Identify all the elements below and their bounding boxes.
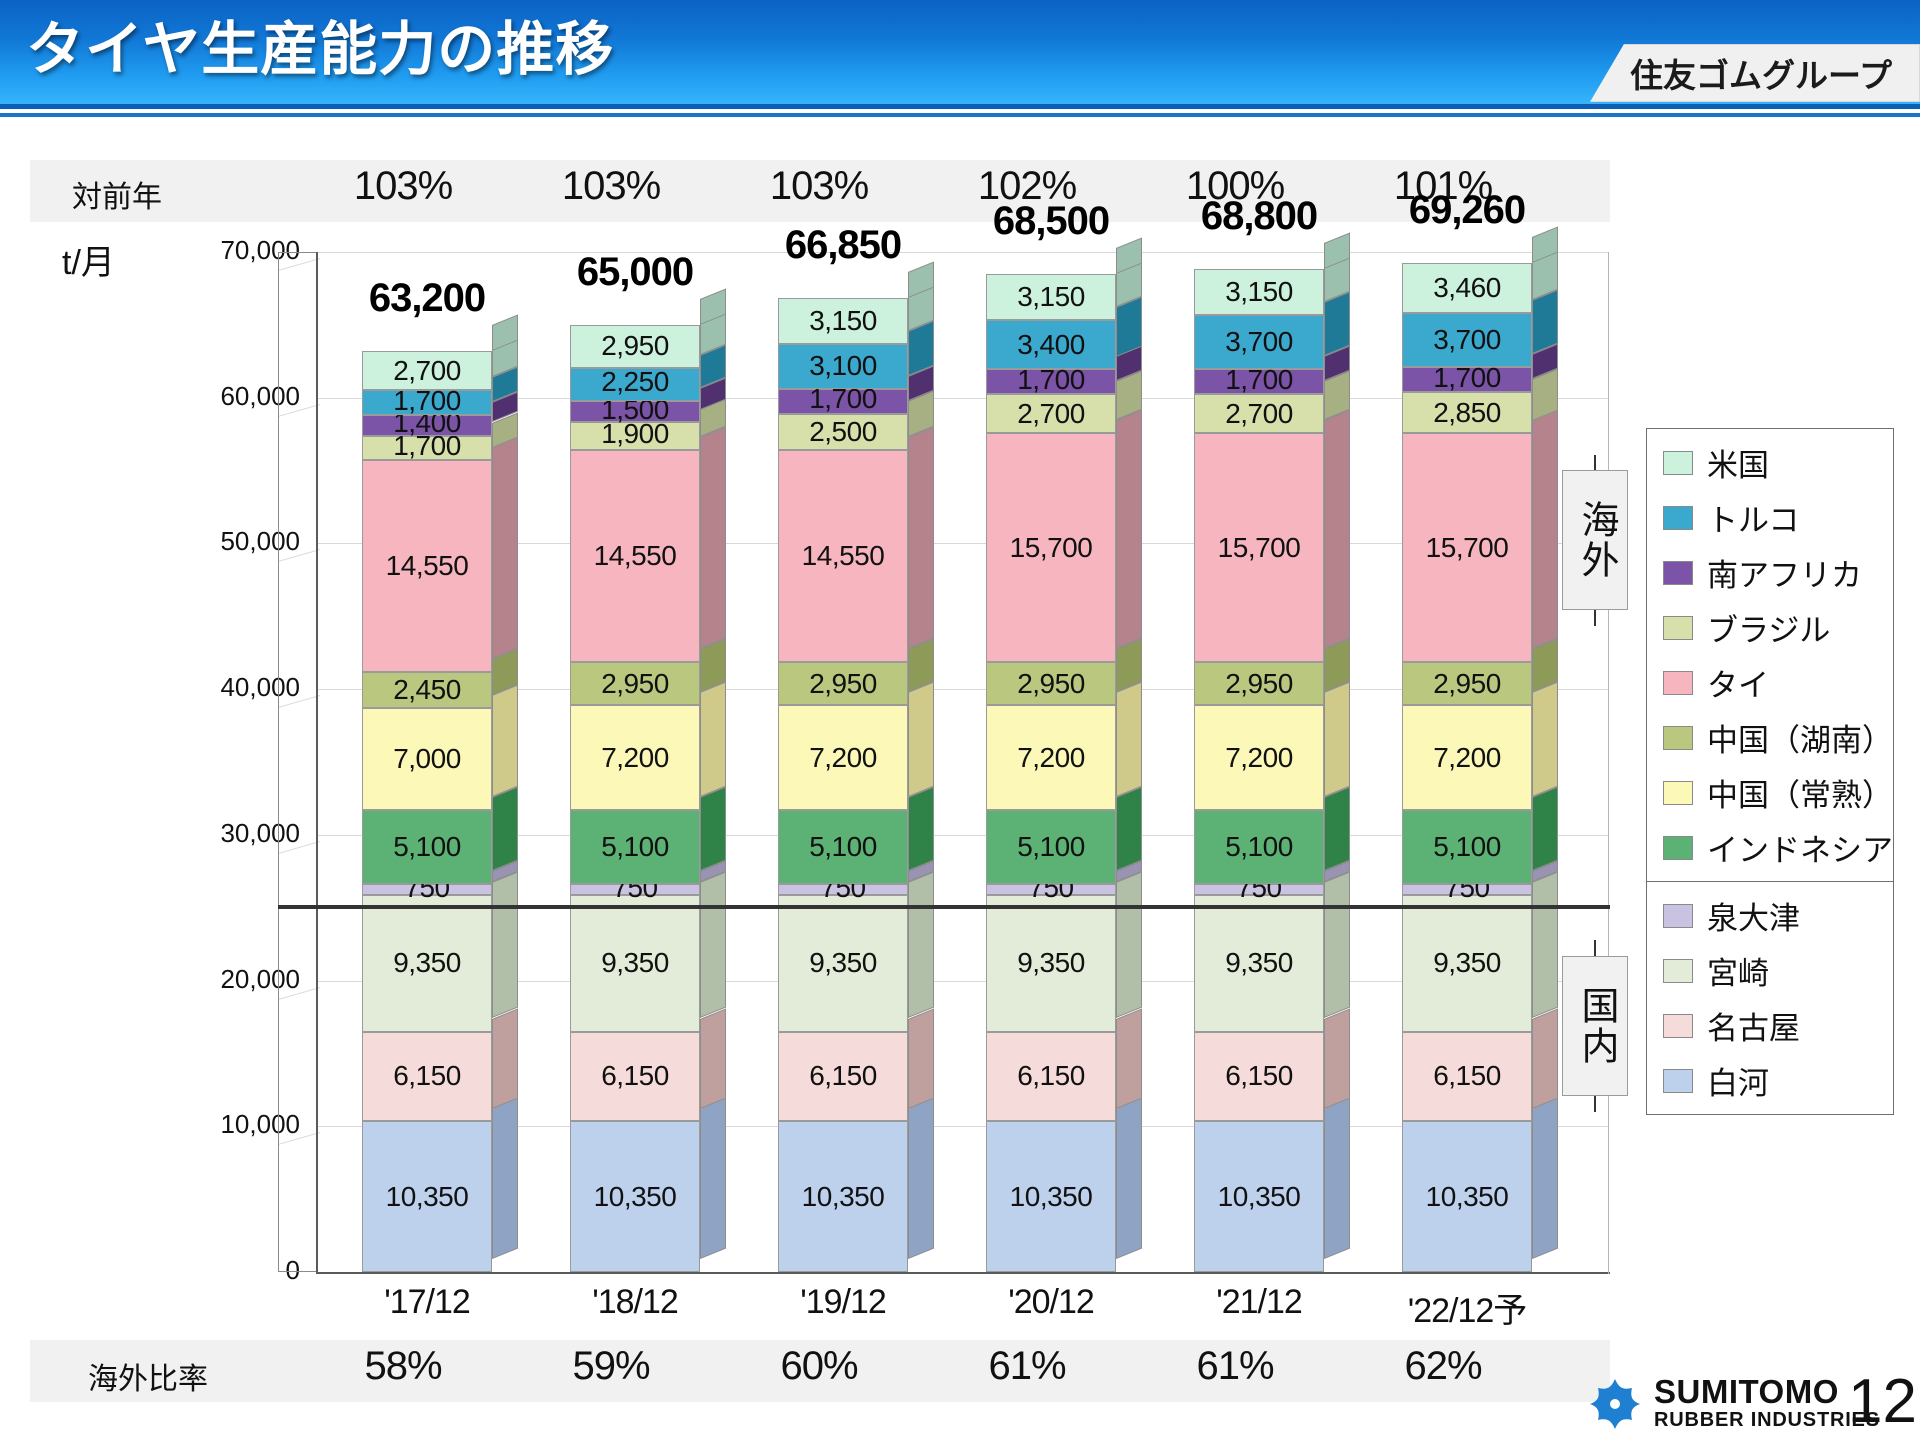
bar-segment-label: 14,550	[386, 550, 469, 582]
legend-swatch-icon	[1663, 1014, 1693, 1038]
bar-segment-4-5: 7,200	[1194, 705, 1324, 810]
legend-label: 宮崎	[1707, 948, 1769, 993]
bar-segment-label: 6,150	[1225, 1060, 1293, 1092]
legend-item-overseas-4[interactable]: タイ	[1647, 655, 1893, 710]
bar-segment-side-5-7	[1532, 410, 1558, 649]
bar-segment-5-2: 9,350	[1402, 895, 1532, 1031]
bar-segment-label: 6,150	[809, 1060, 877, 1092]
bar-segment-label: 3,460	[1433, 272, 1501, 304]
bar-segment-label: 5,100	[601, 831, 669, 863]
bar-segment-label: 2,700	[1017, 398, 1085, 430]
bar-segment-side-0-5	[492, 685, 518, 798]
legend-item-domestic-0[interactable]: 泉大津	[1647, 888, 1893, 943]
bar-segment-side-4-4	[1324, 787, 1350, 872]
bar-segment-2-5: 7,200	[778, 705, 908, 810]
bar-segment-0-7: 14,550	[362, 460, 492, 672]
bar-segment-side-0-7	[492, 437, 518, 660]
bar-segment-4-11: 3,150	[1194, 269, 1324, 315]
bar-segment-label: 9,350	[1433, 947, 1501, 979]
footer-logo: SUMITOMO RUBBER INDUSTRIES	[1588, 1375, 1880, 1432]
bar-segment-2-0: 10,350	[778, 1121, 908, 1272]
bar-segment-5-10: 3,700	[1402, 313, 1532, 367]
bar-segment-label: 6,150	[393, 1060, 461, 1092]
bar-segment-label: 9,350	[1225, 947, 1293, 979]
bar-total-1: 65,000	[515, 250, 755, 295]
bar-segment-4-4: 5,100	[1194, 810, 1324, 884]
bar-segment-side-3-0	[1116, 1098, 1142, 1259]
legend-item-overseas-1[interactable]: トルコ	[1647, 490, 1893, 545]
bar-segment-label: 9,350	[601, 947, 669, 979]
bar-segment-3-10: 3,400	[986, 320, 1116, 370]
bar-segment-side-1-7	[700, 427, 726, 650]
legend-label: 米国	[1707, 440, 1769, 485]
bar-segment-5-5: 7,200	[1402, 705, 1532, 810]
bar-segment-0-1: 6,150	[362, 1032, 492, 1122]
bar-segment-label: 2,700	[1225, 398, 1293, 430]
bar-segment-label: 14,550	[802, 540, 885, 572]
bar-segment-label: 7,000	[393, 743, 461, 775]
bar-segment-side-3-7	[1116, 410, 1142, 649]
bar-segment-4-1: 6,150	[1194, 1032, 1324, 1122]
bar-segment-side-0-2	[492, 872, 518, 1019]
bar-segment-1-0: 10,350	[570, 1121, 700, 1272]
bar-segment-5-4: 5,100	[1402, 810, 1532, 884]
bar-segment-4-7: 15,700	[1194, 433, 1324, 662]
bar-segment-2-11: 3,150	[778, 298, 908, 344]
bar-segment-side-0-0	[492, 1098, 518, 1259]
bar-segment-side-3-5	[1116, 682, 1142, 797]
bar-segment-2-8: 2,500	[778, 414, 908, 450]
bar-segment-4-2: 9,350	[1194, 895, 1324, 1031]
bar-segment-side-1-4	[700, 787, 726, 872]
bar-segment-3-5: 7,200	[986, 705, 1116, 810]
bar-segment-label: 10,350	[1218, 1181, 1301, 1213]
legend-swatch-icon	[1663, 904, 1693, 928]
legend-label: インドネシア	[1707, 825, 1893, 870]
bar-segment-side-2-2	[908, 872, 934, 1019]
domestic-group-label: 国内	[1562, 956, 1628, 1096]
legend-swatch-icon	[1663, 959, 1693, 983]
legend-label: 南アフリカ	[1707, 550, 1862, 595]
bar-segment-1-2: 9,350	[570, 895, 700, 1031]
overseas-ratio-value-0: 58%	[318, 1344, 488, 1389]
bar-segment-label: 5,100	[809, 831, 877, 863]
legend-label: 中国（常熟）	[1707, 770, 1893, 815]
y-axis-line	[316, 252, 318, 1274]
bar-segment-4-0: 10,350	[1194, 1121, 1324, 1272]
legend-label: 白河	[1707, 1058, 1769, 1103]
legend-item-overseas-7[interactable]: インドネシア	[1647, 820, 1893, 875]
bar-segment-5-9: 1,700	[1402, 367, 1532, 392]
legend-item-domestic-3[interactable]: 白河	[1647, 1053, 1893, 1108]
bar-segment-label: 5,100	[393, 831, 461, 863]
bar-segment-label: 2,950	[1433, 668, 1501, 700]
bar-segment-side-5-5	[1532, 682, 1558, 797]
bar-segment-3-11: 3,150	[986, 274, 1116, 320]
overseas-ratio-label: 海外比率	[88, 1354, 208, 1398]
bar-segment-0-9: 1,400	[362, 415, 492, 435]
bar-segment-label: 10,350	[594, 1181, 677, 1213]
legend-group-overseas: 米国トルコ南アフリカブラジルタイ中国（湖南）中国（常熟）インドネシア	[1647, 429, 1893, 881]
legend-label: トルコ	[1707, 495, 1799, 540]
legend-swatch-icon	[1663, 781, 1693, 805]
bar-segment-side-5-10	[1532, 290, 1558, 354]
bar-segment-0-5: 7,000	[362, 708, 492, 810]
bar-segment-label: 3,700	[1225, 326, 1293, 358]
legend-swatch-icon	[1663, 671, 1693, 695]
bar-segment-side-5-1	[1532, 1008, 1558, 1108]
x-axis-label-2: '19/12	[733, 1283, 953, 1322]
overseas-box-stem-top	[1594, 455, 1596, 471]
x-axis-label-0: '17/12	[317, 1283, 537, 1322]
slide-root: タイヤ生産能力の推移 住友ゴムグループ 対前年 103%103%103%102%…	[0, 0, 1920, 1440]
sumitomo-name: SUMITOMO	[1654, 1375, 1880, 1408]
bar-segment-3-7: 15,700	[986, 433, 1116, 662]
bar-segment-label: 5,100	[1225, 831, 1293, 863]
bar-segment-5-11: 3,460	[1402, 263, 1532, 313]
bar-segment-label: 3,400	[1017, 329, 1085, 361]
legend-label: 中国（湖南）	[1707, 715, 1893, 760]
bar-total-4: 68,800	[1139, 194, 1379, 239]
bar-segment-0-0: 10,350	[362, 1121, 492, 1272]
legend-swatch-icon	[1663, 506, 1693, 530]
bar-segment-label: 2,950	[1017, 668, 1085, 700]
bar-segment-0-2: 9,350	[362, 895, 492, 1031]
legend-group-domestic: 泉大津宮崎名古屋白河	[1647, 881, 1893, 1114]
bar-segment-label: 2,950	[601, 668, 669, 700]
bar-segment-0-4: 5,100	[362, 810, 492, 884]
bar-segment-label: 9,350	[809, 947, 877, 979]
bar-segment-label: 6,150	[1017, 1060, 1085, 1092]
bar-segment-3-3: 750	[986, 884, 1116, 895]
overseas-ratio-value-4: 61%	[1150, 1344, 1320, 1389]
bar-segment-label: 2,850	[1433, 397, 1501, 429]
bar-segment-side-2-7	[908, 427, 934, 650]
bar-total-2: 66,850	[723, 223, 963, 268]
bar-segment-side-3-2	[1116, 872, 1142, 1019]
bar-segment-4-6: 2,950	[1194, 662, 1324, 705]
bar-segment-1-7: 14,550	[570, 450, 700, 662]
overseas-ratio-value-5: 62%	[1358, 1344, 1528, 1389]
legend-item-overseas-6[interactable]: 中国（常熟）	[1647, 765, 1893, 820]
bar-segment-2-4: 5,100	[778, 810, 908, 884]
plot-right-edge	[1608, 252, 1609, 1274]
bar-segment-side-4-7	[1324, 410, 1350, 649]
x-axis-label-5: '22/12予	[1357, 1283, 1577, 1332]
bar-segment-4-10: 3,700	[1194, 315, 1324, 369]
x-axis-label-3: '20/12	[941, 1283, 1161, 1322]
bar-segment-label: 2,950	[1225, 668, 1293, 700]
page-number: 12	[1848, 1366, 1917, 1437]
bar-segment-0-10: 1,700	[362, 390, 492, 415]
bar-segment-2-1: 6,150	[778, 1032, 908, 1122]
bar-segment-label: 6,150	[1433, 1060, 1501, 1092]
bar-segment-5-3: 750	[1402, 884, 1532, 895]
x-axis-label-1: '18/12	[525, 1283, 745, 1322]
bar-segment-label: 7,200	[1017, 742, 1085, 774]
x-axis-line	[316, 1272, 1610, 1274]
bar-segment-3-0: 10,350	[986, 1121, 1116, 1272]
bar-segment-side-1-1	[700, 1008, 726, 1108]
bar-segment-0-3: 750	[362, 884, 492, 895]
bar-segment-5-8: 2,850	[1402, 392, 1532, 434]
overseas-ratio-value-2: 60%	[734, 1344, 904, 1389]
bar-segment-label: 2,950	[809, 668, 877, 700]
bar-total-3: 68,500	[931, 199, 1171, 244]
chart-area: t/月 010,00020,00030,00040,00050,00060,00…	[0, 0, 1920, 1440]
bar-segment-1-5: 7,200	[570, 705, 700, 810]
bar-segment-0-6: 2,450	[362, 672, 492, 708]
bar-segment-2-2: 9,350	[778, 895, 908, 1031]
bar-segment-label: 7,200	[1433, 742, 1501, 774]
bar-segment-side-0-1	[492, 1008, 518, 1108]
x-axis-label-4: '21/12	[1149, 1283, 1369, 1322]
bar-segment-1-8: 1,900	[570, 422, 700, 450]
bar-segment-2-10: 3,100	[778, 344, 908, 389]
bar-segment-3-4: 5,100	[986, 810, 1116, 884]
bar-segment-label: 6,150	[601, 1060, 669, 1092]
bar-segment-label: 3,100	[809, 350, 877, 382]
gridline-70000	[318, 252, 1608, 253]
bar-segment-label: 7,200	[601, 742, 669, 774]
bar-segment-label: 3,150	[809, 305, 877, 337]
bar-segment-3-6: 2,950	[986, 662, 1116, 705]
bar-segment-1-9: 1,500	[570, 401, 700, 423]
bar-segment-label: 2,250	[601, 366, 669, 398]
y-axis-unit-label: t/月	[62, 235, 115, 284]
overseas-group-label: 海外	[1562, 470, 1628, 610]
bar-segment-5-0: 10,350	[1402, 1121, 1532, 1272]
legend-swatch-icon	[1663, 451, 1693, 475]
bar-segment-side-5-0	[1532, 1098, 1558, 1259]
sumitomo-tagline: RUBBER INDUSTRIES	[1654, 1408, 1880, 1432]
sumitomo-diamond-icon	[1588, 1377, 1642, 1431]
bar-segment-2-7: 14,550	[778, 450, 908, 662]
bar-segment-4-9: 1,700	[1194, 369, 1324, 394]
legend-swatch-icon	[1663, 561, 1693, 585]
bar-segment-label: 2,500	[809, 416, 877, 448]
bar-segment-side-0-4	[492, 787, 518, 872]
overseas-ratio-value-1: 59%	[526, 1344, 696, 1389]
bar-segment-label: 5,100	[1433, 831, 1501, 863]
bar-segment-side-4-0	[1324, 1098, 1350, 1259]
legend-swatch-icon	[1663, 616, 1693, 640]
bar-segment-label: 9,350	[1017, 947, 1085, 979]
bar-segment-3-2: 9,350	[986, 895, 1116, 1031]
legend-label: ブラジル	[1707, 605, 1830, 650]
bar-segment-label: 2,950	[601, 330, 669, 362]
bar-segment-5-1: 6,150	[1402, 1032, 1532, 1122]
bar-segment-1-6: 2,950	[570, 662, 700, 705]
bar-segment-3-9: 1,700	[986, 369, 1116, 394]
legend-label: タイ	[1707, 660, 1769, 705]
bar-segment-side-4-5	[1324, 682, 1350, 797]
bar-segment-side-4-10	[1324, 292, 1350, 356]
bar-segment-label: 9,350	[393, 947, 461, 979]
bar-segment-label: 15,700	[1218, 532, 1301, 564]
domestic-box-stem-bottom	[1594, 1096, 1596, 1112]
bar-segment-1-11: 2,950	[570, 325, 700, 368]
bar-segment-4-8: 2,700	[1194, 394, 1324, 433]
bar-segment-label: 2,450	[393, 674, 461, 706]
overseas-box-stem-bottom	[1594, 610, 1596, 626]
legend-swatch-icon	[1663, 726, 1693, 750]
bar-segment-side-5-4	[1532, 787, 1558, 872]
bar-segment-label: 10,350	[802, 1181, 885, 1213]
bar-segment-label: 15,700	[1426, 532, 1509, 564]
bar-segment-side-2-1	[908, 1008, 934, 1108]
bar-segment-side-2-5	[908, 682, 934, 797]
bar-segment-side-2-0	[908, 1098, 934, 1259]
domestic-overseas-divider	[278, 905, 1610, 909]
bar-segment-label: 10,350	[1426, 1181, 1509, 1213]
bar-segment-side-4-1	[1324, 1008, 1350, 1108]
legend-item-domestic-2[interactable]: 名古屋	[1647, 998, 1893, 1053]
bar-total-0: 63,200	[307, 276, 547, 321]
bar-segment-label: 5,100	[1017, 831, 1085, 863]
legend-swatch-icon	[1663, 1069, 1693, 1093]
overseas-ratio-row: 海外比率 58%59%60%61%61%62%	[30, 1340, 1610, 1402]
domestic-box-stem-top	[1594, 940, 1596, 956]
bar-segment-label: 7,200	[1225, 742, 1293, 774]
bar-segment-side-1-0	[700, 1098, 726, 1259]
bar-segment-2-6: 2,950	[778, 662, 908, 705]
legend-label: 泉大津	[1707, 893, 1800, 938]
bar-segment-label: 2,700	[393, 355, 461, 387]
bar-segment-1-10: 2,250	[570, 368, 700, 401]
bar-segment-side-1-2	[700, 872, 726, 1019]
bar-segment-label: 10,350	[1010, 1181, 1093, 1213]
bar-segment-side-4-2	[1324, 872, 1350, 1019]
bar-segment-1-3: 750	[570, 884, 700, 895]
bar-segment-5-7: 15,700	[1402, 433, 1532, 662]
bar-segment-0-11: 2,700	[362, 351, 492, 390]
chart-legend: 米国トルコ南アフリカブラジルタイ中国（湖南）中国（常熟）インドネシア 泉大津宮崎…	[1646, 428, 1894, 1115]
legend-label: 名古屋	[1707, 1003, 1800, 1048]
bar-segment-side-1-5	[700, 682, 726, 797]
bar-segment-1-4: 5,100	[570, 810, 700, 884]
bar-segment-label: 14,550	[594, 540, 677, 572]
legend-item-overseas-5[interactable]: 中国（湖南）	[1647, 710, 1893, 765]
legend-item-domestic-1[interactable]: 宮崎	[1647, 943, 1893, 998]
bar-segment-2-9: 1,700	[778, 389, 908, 414]
bar-segment-label: 3,150	[1017, 281, 1085, 313]
bar-segment-side-5-2	[1532, 872, 1558, 1019]
bar-segment-side-3-1	[1116, 1008, 1142, 1108]
bar-segment-1-1: 6,150	[570, 1032, 700, 1122]
legend-item-overseas-2[interactable]: 南アフリカ	[1647, 545, 1893, 600]
legend-item-overseas-3[interactable]: ブラジル	[1647, 600, 1893, 655]
bar-segment-label: 3,700	[1433, 324, 1501, 356]
bar-segment-label: 10,350	[386, 1181, 469, 1213]
bar-segment-4-3: 750	[1194, 884, 1324, 895]
bar-segment-label: 3,150	[1225, 276, 1293, 308]
bar-segment-label: 7,200	[809, 742, 877, 774]
bar-segment-side-2-4	[908, 787, 934, 872]
bar-total-5: 69,260	[1347, 188, 1587, 233]
bar-segment-side-3-4	[1116, 787, 1142, 872]
bar-segment-label: 15,700	[1010, 532, 1093, 564]
bar-segment-2-3: 750	[778, 884, 908, 895]
sumitomo-wordmark: SUMITOMO RUBBER INDUSTRIES	[1654, 1375, 1880, 1432]
legend-item-overseas-0[interactable]: 米国	[1647, 435, 1893, 490]
overseas-ratio-value-3: 61%	[942, 1344, 1112, 1389]
axis-wall-3d	[278, 252, 318, 1272]
bar-segment-3-8: 2,700	[986, 394, 1116, 433]
bar-segment-5-6: 2,950	[1402, 662, 1532, 705]
bar-segment-3-1: 6,150	[986, 1032, 1116, 1122]
legend-swatch-icon	[1663, 836, 1693, 860]
